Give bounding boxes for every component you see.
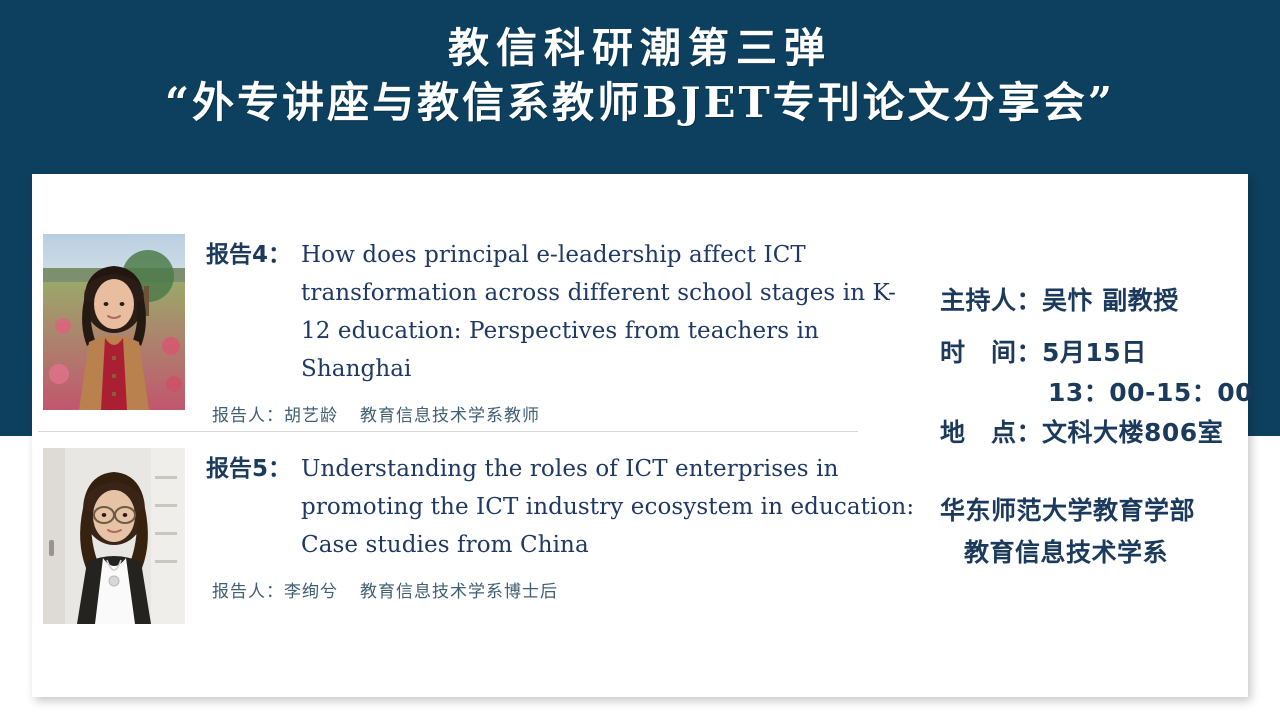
time-value-date: 5月15日 — [1042, 338, 1147, 367]
speaker-portrait-illustration — [43, 234, 185, 410]
poster-header: 教信科研潮第三弹 “外专讲座与教信系教师BJET专刊论文分享会” — [0, 0, 1280, 174]
host-value: 吴忭 副教授 — [1042, 286, 1179, 315]
speaker-photo — [43, 234, 185, 410]
poster-root: 教信科研潮第三弹 “外专讲座与教信系教师BJET专刊论文分享会” — [0, 0, 1280, 720]
info-spacer — [940, 322, 1240, 332]
talk-number-label: 报告4： — [206, 236, 301, 274]
place-row: 地 点：文科大楼806室 — [940, 412, 1240, 454]
talk-body: 报告5： Understanding the roles of ICT ente… — [206, 448, 941, 602]
organizer-line-2: 教育信息技术学系 — [940, 532, 1240, 574]
talk-title: How does principal e-leadership affect I… — [301, 236, 921, 388]
talk-entry: 报告4： How does principal e-leadership aff… — [43, 234, 921, 426]
time-value-range: 13：00-15：00 — [940, 374, 1240, 412]
organizer-line-1: 华东师范大学教育学部 — [940, 490, 1240, 532]
poster-title-line-2: “外专讲座与教信系教师BJET专刊论文分享会” — [0, 74, 1280, 132]
speaker-label: 报告人： — [212, 406, 284, 426]
talk-speaker-line: 报告人：胡艺龄教育信息技术学系教师 — [212, 401, 921, 426]
talk-heading: 报告4： How does principal e-leadership aff… — [206, 236, 921, 388]
organizer-block: 华东师范大学教育学部 教育信息技术学系 — [940, 490, 1240, 574]
talk-entry: 报告5： Understanding the roles of ICT ente… — [43, 448, 941, 624]
speaker-portrait-illustration — [43, 448, 185, 624]
place-value: 文科大楼806室 — [1042, 418, 1223, 447]
talk-heading: 报告5： Understanding the roles of ICT ente… — [206, 450, 941, 564]
speaker-name: 胡艺龄 — [284, 406, 338, 426]
talk-body: 报告4： How does principal e-leadership aff… — [206, 234, 921, 426]
talk-number-label: 报告5： — [206, 450, 301, 488]
speaker-photo — [43, 448, 185, 624]
speaker-affiliation: 教育信息技术学系博士后 — [360, 582, 558, 602]
place-label: 地 点： — [940, 412, 1042, 454]
host-row: 主持人：吴忭 副教授 — [940, 280, 1240, 322]
talk-title: Understanding the roles of ICT enterpris… — [301, 450, 941, 564]
talk-speaker-line: 报告人：李绚兮教育信息技术学系博士后 — [212, 577, 941, 602]
talk-divider — [38, 431, 858, 432]
event-info-block: 主持人：吴忭 副教授 时 间：5月15日 13：00-15：00 地 点：文科大… — [940, 280, 1240, 574]
content-card: 报告4： How does principal e-leadership aff… — [32, 174, 1248, 697]
speaker-label: 报告人： — [212, 582, 284, 602]
poster-title-line-1: 教信科研潮第三弹 — [0, 22, 1280, 74]
time-row: 时 间：5月15日 — [940, 332, 1240, 374]
speaker-name: 李绚兮 — [284, 582, 338, 602]
time-label: 时 间： — [940, 332, 1042, 374]
host-label: 主持人： — [940, 280, 1042, 322]
speaker-affiliation: 教育信息技术学系教师 — [360, 406, 540, 426]
